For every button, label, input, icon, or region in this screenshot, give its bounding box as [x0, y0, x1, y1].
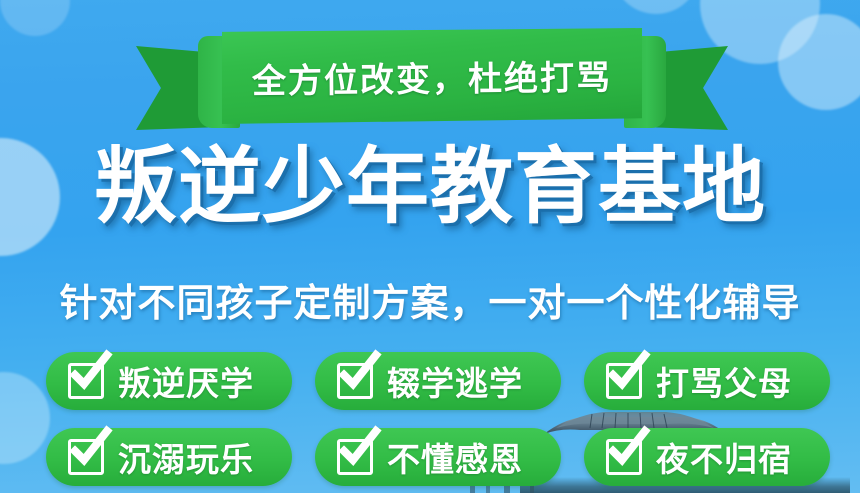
feature-pill[interactable]: 打骂父母: [584, 352, 830, 410]
checkbox-checked-icon: [606, 439, 642, 475]
promo-poster: 全方位改变，杜绝打骂 叛逆少年教育基地 针对不同孩子定制方案，一对一个性化辅导 …: [0, 0, 860, 493]
checkbox-checked-icon: [606, 363, 642, 399]
feature-pill[interactable]: 沉溺玩乐: [46, 428, 292, 486]
feature-pill[interactable]: 不懂感恩: [315, 428, 561, 486]
feature-pill[interactable]: 辍学逃学: [315, 352, 561, 410]
bokeh-circle: [0, 372, 50, 464]
feature-pill-label: 辍学逃学: [387, 357, 523, 405]
bokeh-circle: [0, 0, 70, 36]
page-title: 叛逆少年教育基地: [0, 143, 860, 230]
feature-pill-label: 夜不归宿: [656, 433, 792, 481]
checkbox-checked-icon: [68, 363, 104, 399]
feature-pill-label: 打骂父母: [656, 357, 792, 405]
feature-pill-label: 沉溺玩乐: [118, 433, 254, 481]
checkbox-checked-icon: [337, 363, 373, 399]
feature-pill-grid: 叛逆厌学 辍学逃学 打骂父母 沉溺玩乐 不懂感恩: [46, 352, 830, 486]
page-subtitle: 针对不同孩子定制方案，一对一个性化辅导: [0, 272, 860, 327]
ribbon-text: 全方位改变，杜绝打骂: [252, 50, 612, 103]
feature-pill-label: 不懂感恩: [387, 433, 523, 481]
feature-pill[interactable]: 叛逆厌学: [46, 352, 292, 410]
bokeh-circle: [612, 0, 700, 14]
feature-pill-label: 叛逆厌学: [118, 357, 254, 405]
ribbon-banner: 全方位改变，杜绝打骂: [136, 22, 728, 134]
checkbox-checked-icon: [337, 439, 373, 475]
bokeh-circle: [778, 14, 860, 110]
ribbon-main-body: 全方位改变，杜绝打骂: [222, 28, 642, 124]
checkbox-checked-icon: [68, 439, 104, 475]
feature-pill[interactable]: 夜不归宿: [584, 428, 830, 486]
